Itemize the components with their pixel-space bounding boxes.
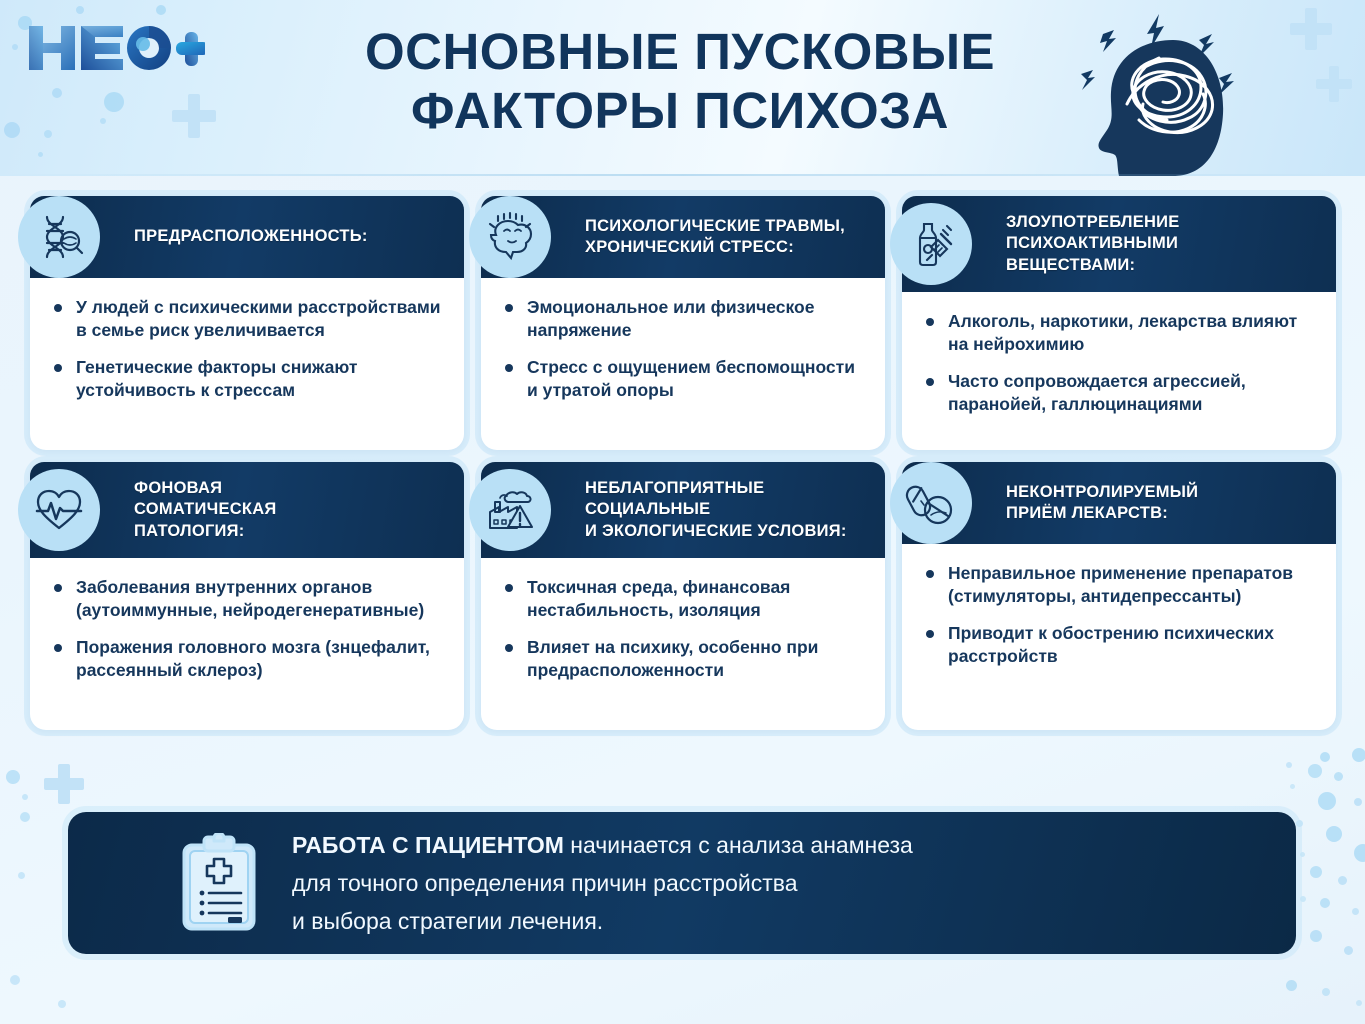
card-title-line: ЗЛОУПОТРЕБЛЕНИЕ (1006, 212, 1180, 233)
logo-icon (25, 16, 205, 78)
bullet-list: Неправильное применение препаратов (стим… (922, 562, 1316, 668)
decor-dot (1300, 852, 1305, 857)
decor-plus (1290, 8, 1332, 50)
factor-card[interactable]: НЕБЛАГОПРИЯТНЫЕ СОЦИАЛЬНЫЕ И ЭКОЛОГИЧЕСК… (481, 462, 885, 730)
list-item: Неправильное применение препаратов (стим… (922, 562, 1316, 608)
summary-line-3: и выбора стратегии лечения. (292, 902, 913, 940)
page-title-line1: ОСНОВНЫЕ ПУСКОВЫЕ (365, 23, 995, 80)
card-title-line: ФОНОВАЯ (134, 478, 276, 499)
card-title: ЗЛОУПОТРЕБЛЕНИЕ ПСИХОАКТИВНЫМИ ВЕЩЕСТВАМ… (1006, 212, 1180, 276)
decor-dot (4, 122, 20, 138)
card-title-line: ПАТОЛОГИЯ: (134, 521, 276, 542)
card-header: ФОНОВАЯ СОМАТИЧЕСКАЯ ПАТОЛОГИЯ: (30, 462, 464, 558)
decor-dot (76, 6, 84, 14)
decor-dot (52, 88, 62, 98)
decor-plus (172, 94, 216, 138)
decor-dot (1334, 772, 1343, 781)
decor-dot (1320, 752, 1330, 762)
summary-line-1-rest: начинается с анализа анамнеза (564, 832, 913, 858)
decor-dot (1352, 908, 1359, 915)
summary-line-1: РАБОТА С ПАЦИЕНТОМ начинается с анализа … (292, 826, 913, 864)
decor-dot (58, 1000, 66, 1008)
decor-dot (6, 770, 20, 784)
decor-dot (1354, 844, 1365, 862)
decor-dot (12, 44, 18, 50)
heart-pulse-icon (18, 469, 100, 551)
list-item: Эмоциональное или физическое напряжение (501, 296, 865, 342)
card-header: ПРЕДРАСПОЛОЖЕННОСТЬ: (30, 196, 464, 278)
decor-dot (1344, 946, 1353, 955)
bullet-list: Эмоциональное или физическое напряжение … (501, 296, 865, 402)
card-header: ЗЛОУПОТРЕБЛЕНИЕ ПСИХОАКТИВНЫМИ ВЕЩЕСТВАМ… (902, 196, 1336, 292)
card-title-line: НЕКОНТРОЛИРУЕМЫЙ (1006, 482, 1198, 503)
card-body: Алкоголь, наркотики, лекарства влияют на… (902, 292, 1336, 432)
clipboard-medical-icon (178, 833, 260, 933)
card-header: ПСИХОЛОГИЧЕСКИЕ ТРАВМЫ, ХРОНИЧЕСКИЙ СТРЕ… (481, 196, 885, 278)
factor-cards-grid: ПРЕДРАСПОЛОЖЕННОСТЬ: У людей с психическ… (22, 196, 1344, 730)
card-header: НЕКОНТРОЛИРУЕМЫЙ ПРИЁМ ЛЕКАРСТВ: (902, 462, 1336, 544)
list-item: Приводит к обострению психических расстр… (922, 622, 1316, 668)
decor-dot (1310, 930, 1322, 942)
summary-bold-lead: РАБОТА С ПАЦИЕНТОМ (292, 832, 564, 858)
decor-dot (1322, 988, 1330, 996)
card-title-line: СОМАТИЧЕСКАЯ (134, 499, 276, 520)
factor-card[interactable]: ПСИХОЛОГИЧЕСКИЕ ТРАВМЫ, ХРОНИЧЕСКИЙ СТРЕ… (481, 196, 885, 450)
card-title-line: ПРЕДРАСПОЛОЖЕННОСТЬ: (134, 226, 368, 247)
card-body: Токсичная среда, финансовая нестабильнос… (481, 558, 885, 698)
decor-dot (1308, 764, 1322, 778)
decor-dot (1310, 866, 1322, 878)
card-title: НЕБЛАГОПРИЯТНЫЕ СОЦИАЛЬНЫЕ И ЭКОЛОГИЧЕСК… (585, 478, 847, 542)
bottle-syringe-icon (890, 203, 972, 285)
decor-dot (1290, 784, 1295, 789)
list-item: Заболевания внутренних органов (аутоимму… (50, 576, 444, 622)
list-item: Влияет на психику, особенно при предрасп… (501, 636, 865, 682)
decor-dot (1354, 798, 1362, 806)
summary-banner-text: РАБОТА С ПАЦИЕНТОМ начинается с анализа … (292, 826, 913, 941)
decor-dot (104, 92, 124, 112)
decor-dot (1296, 820, 1303, 827)
decor-dot (1338, 876, 1347, 885)
card-header: НЕБЛАГОПРИЯТНЫЕ СОЦИАЛЬНЫЕ И ЭКОЛОГИЧЕСК… (481, 462, 885, 558)
decor-dot (44, 130, 52, 138)
card-title: ФОНОВАЯ СОМАТИЧЕСКАЯ ПАТОЛОГИЯ: (134, 478, 276, 542)
decor-dot (1286, 980, 1297, 991)
card-title-line: ПСИХОЛОГИЧЕСКИЕ ТРАВМЫ, (585, 216, 845, 237)
decor-plus (44, 764, 84, 804)
page-title: ОСНОВНЫЕ ПУСКОВЫЕ ФАКТОРЫ ПСИХОЗА (300, 22, 1060, 140)
decor-dot (10, 975, 20, 985)
card-title-line: ВЕЩЕСТВАМИ: (1006, 255, 1180, 276)
card-body: У людей с психическими расстройствами в … (30, 278, 464, 418)
pills-icon (890, 462, 972, 544)
infographic-root: ОСНОВНЫЕ ПУСКОВЫЕ ФАКТОРЫ ПСИХОЗА (0, 0, 1365, 1024)
card-title-line: СОЦИАЛЬНЫЕ (585, 499, 847, 520)
decor-dot (20, 812, 30, 822)
list-item: Токсичная среда, финансовая нестабильнос… (501, 576, 865, 622)
decor-dot (100, 118, 106, 124)
card-title: ПСИХОЛОГИЧЕСКИЕ ТРАВМЫ, ХРОНИЧЕСКИЙ СТРЕ… (585, 216, 845, 259)
card-title: НЕКОНТРОЛИРУЕМЫЙ ПРИЁМ ЛЕКАРСТВ: (1006, 482, 1198, 525)
brand-logo[interactable] (25, 16, 205, 78)
dna-magnifier-icon (18, 196, 100, 278)
card-title-line: ПСИХОАКТИВНЫМИ (1006, 233, 1180, 254)
card-title-line: И ЭКОЛОГИЧЕСКИЕ УСЛОВИЯ: (585, 521, 847, 542)
factor-card[interactable]: ПРЕДРАСПОЛОЖЕННОСТЬ: У людей с психическ… (30, 196, 464, 450)
decor-dot (18, 872, 25, 879)
head-with-tangled-thoughts-icon (1055, 0, 1285, 176)
bullet-list: Алкоголь, наркотики, лекарства влияют на… (922, 310, 1316, 416)
decor-dot (38, 152, 43, 157)
list-item: Стресс с ощущением беспомощности и утрат… (501, 356, 865, 402)
bullet-list: Токсичная среда, финансовая нестабильнос… (501, 576, 865, 682)
card-title: ПРЕДРАСПОЛОЖЕННОСТЬ: (134, 226, 368, 247)
factory-warning-icon (469, 469, 551, 551)
header-band: ОСНОВНЫЕ ПУСКОВЫЕ ФАКТОРЫ ПСИХОЗА (0, 0, 1365, 176)
decor-dot (156, 5, 166, 15)
list-item: Алкоголь, наркотики, лекарства влияют на… (922, 310, 1316, 356)
decor-dot (1286, 762, 1292, 768)
decor-dot (1352, 748, 1365, 762)
card-body: Эмоциональное или физическое напряжение … (481, 278, 885, 418)
decor-dot (22, 794, 28, 800)
factor-card[interactable]: НЕКОНТРОЛИРУЕМЫЙ ПРИЁМ ЛЕКАРСТВ: Неправи… (902, 462, 1336, 730)
list-item: Поражения головного мозга (знцефалит, ра… (50, 636, 444, 682)
card-title-line: НЕБЛАГОПРИЯТНЫЕ (585, 478, 847, 499)
decor-dot (1326, 826, 1342, 842)
decor-dot (1318, 792, 1336, 810)
summary-line-2: для точного определения причин расстройс… (292, 864, 913, 902)
decor-dot (1320, 898, 1330, 908)
list-item: Часто сопровождается агрессией, паранойе… (922, 370, 1316, 416)
card-body: Заболевания внутренних органов (аутоимму… (30, 558, 464, 698)
factor-card[interactable]: ЗЛОУПОТРЕБЛЕНИЕ ПСИХОАКТИВНЫМИ ВЕЩЕСТВАМ… (902, 196, 1336, 450)
bullet-list: У людей с психическими расстройствами в … (50, 296, 444, 402)
card-title-line: ПРИЁМ ЛЕКАРСТВ: (1006, 503, 1198, 524)
decor-plus (1316, 66, 1352, 102)
factor-card[interactable]: ФОНОВАЯ СОМАТИЧЕСКАЯ ПАТОЛОГИЯ: Заболева… (30, 462, 464, 730)
card-body: Неправильное применение препаратов (стим… (902, 544, 1336, 684)
page-title-line2: ФАКТОРЫ ПСИХОЗА (300, 81, 1060, 140)
stressed-brain-icon (469, 196, 551, 278)
decor-dot (1300, 896, 1306, 902)
decor-dot (1356, 1000, 1362, 1006)
list-item: Генетические факторы снижают устойчивост… (50, 356, 444, 402)
list-item: У людей с психическими расстройствами в … (50, 296, 444, 342)
bullet-list: Заболевания внутренних органов (аутоимму… (50, 576, 444, 682)
summary-banner: РАБОТА С ПАЦИЕНТОМ начинается с анализа … (68, 812, 1296, 954)
card-title-line: ХРОНИЧЕСКИЙ СТРЕСС: (585, 237, 845, 258)
